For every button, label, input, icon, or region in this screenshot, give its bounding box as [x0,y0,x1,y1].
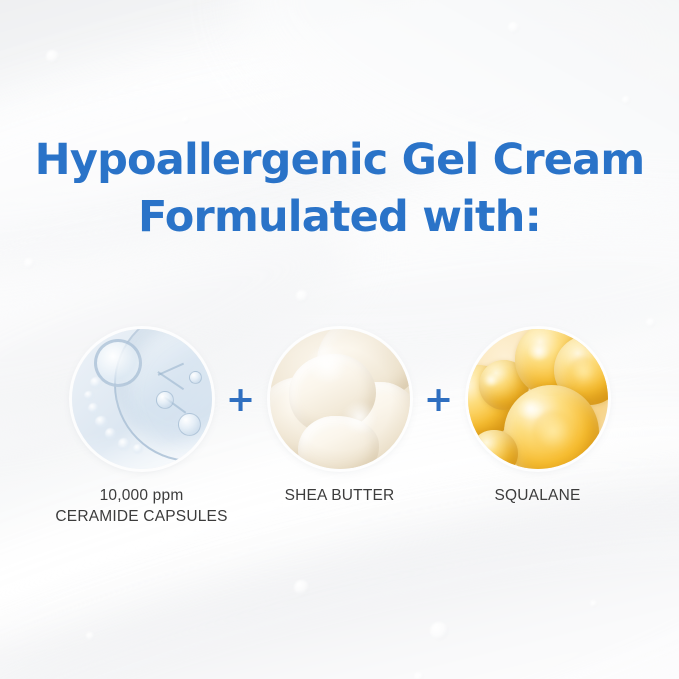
droplet [508,22,519,33]
droplet [414,672,423,679]
droplet [24,258,34,268]
ingredient-item-ceramide-capsules: 10,000 ppm CERAMIDE CAPSULES [62,329,222,527]
bubble-stream [84,391,94,401]
page-title-line-1: Hypoallergenic Gel Cream [0,132,679,189]
droplet [46,50,59,63]
droplet [86,632,94,640]
oil-capsule [470,430,518,469]
oil-inner-glow [568,357,599,385]
ingredient-list: 10,000 ppm CERAMIDE CAPSULES + SHEA BUTT… [0,329,679,527]
droplet [430,622,448,640]
caption-line-1: 10,000 ppm [55,485,227,506]
bubble-stream [90,377,103,390]
ingredient-item-shea-butter: SHEA BUTTER [260,329,420,506]
bubble-stream [88,403,99,414]
droplet [622,96,630,104]
page-title: Hypoallergenic Gel Cream Formulated with… [0,132,679,246]
caption-line-1: SQUALANE [494,485,580,506]
bubble-stream [118,438,131,451]
ingredient-item-squalane: SQUALANE [458,329,618,506]
ingredient-caption-ceramide-capsules: 10,000 ppm CERAMIDE CAPSULES [55,485,227,527]
oil-specular [518,399,543,419]
droplet [294,580,309,595]
shea-butter-image [270,329,410,469]
bubble-stream [133,444,143,454]
ingredient-caption-shea-butter: SHEA BUTTER [285,485,395,506]
product-ingredient-infographic: Hypoallergenic Gel Cream Formulated with… [0,0,679,679]
droplet [182,116,189,123]
bubble-stream [105,428,116,439]
page-title-line-2: Formulated with: [0,189,679,246]
droplet [590,600,597,607]
plus-separator-2: + [420,329,458,469]
droplet [646,318,655,327]
ceramide-capsules-image [72,329,212,469]
bubble-stream [95,416,108,429]
squalane-image [468,329,608,469]
droplet [296,290,308,302]
gel-bubble [178,413,201,436]
butter-edge-shade [270,329,410,469]
caption-line-1: SHEA BUTTER [285,485,395,506]
plus-separator-1: + [222,329,260,469]
oil-specular [529,343,549,360]
caption-line-2: CERAMIDE CAPSULES [55,506,227,527]
ingredient-caption-squalane: SQUALANE [494,485,580,506]
